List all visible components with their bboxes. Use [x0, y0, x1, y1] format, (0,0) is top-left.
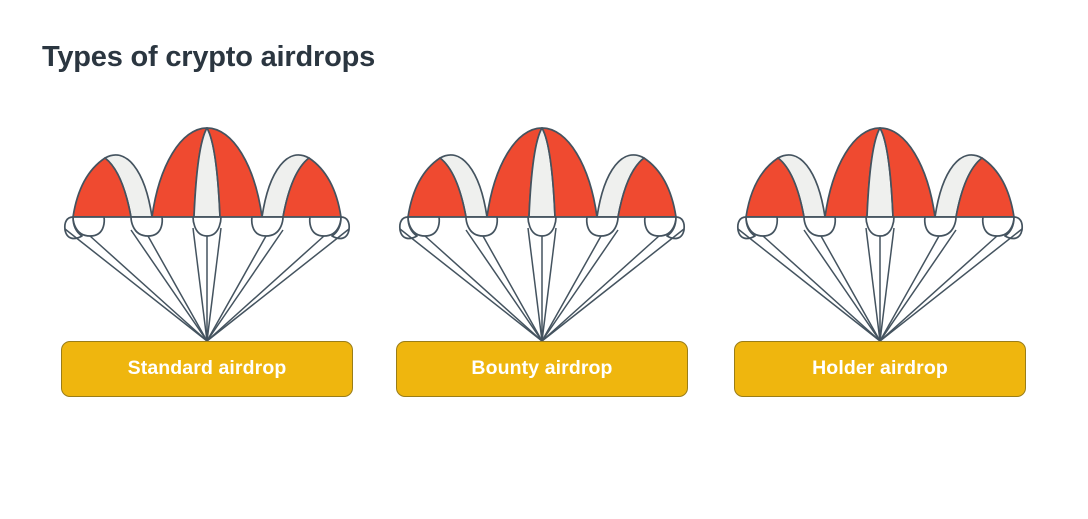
airdrop-type-button-standard[interactable]: Standard airdrop: [61, 341, 353, 397]
parachute-icon: [377, 118, 707, 350]
parachute-canopy: [400, 128, 684, 238]
airdrop-type-label: Holder airdrop: [812, 359, 948, 379]
parachute-icon: [715, 118, 1045, 350]
infographic-canvas: Types of crypto airdrops: [0, 0, 1088, 519]
parachute-icon: [42, 118, 372, 350]
airdrop-type-button-holder[interactable]: Holder airdrop: [734, 341, 1026, 397]
airdrop-card: Holder airdrop: [715, 118, 1045, 408]
parachute-canopy: [65, 128, 349, 238]
parachute-strings: [65, 228, 349, 341]
airdrop-type-button-bounty[interactable]: Bounty airdrop: [396, 341, 688, 397]
airdrop-card: Bounty airdrop: [377, 118, 707, 408]
airdrop-card: Standard airdrop: [42, 118, 372, 408]
page-title: Types of crypto airdrops: [42, 41, 375, 74]
parachute-strings: [738, 228, 1022, 341]
parachute-canopy: [738, 128, 1022, 238]
airdrop-type-label: Standard airdrop: [128, 359, 287, 379]
airdrop-type-label: Bounty airdrop: [471, 359, 612, 379]
parachute-strings: [400, 228, 684, 341]
